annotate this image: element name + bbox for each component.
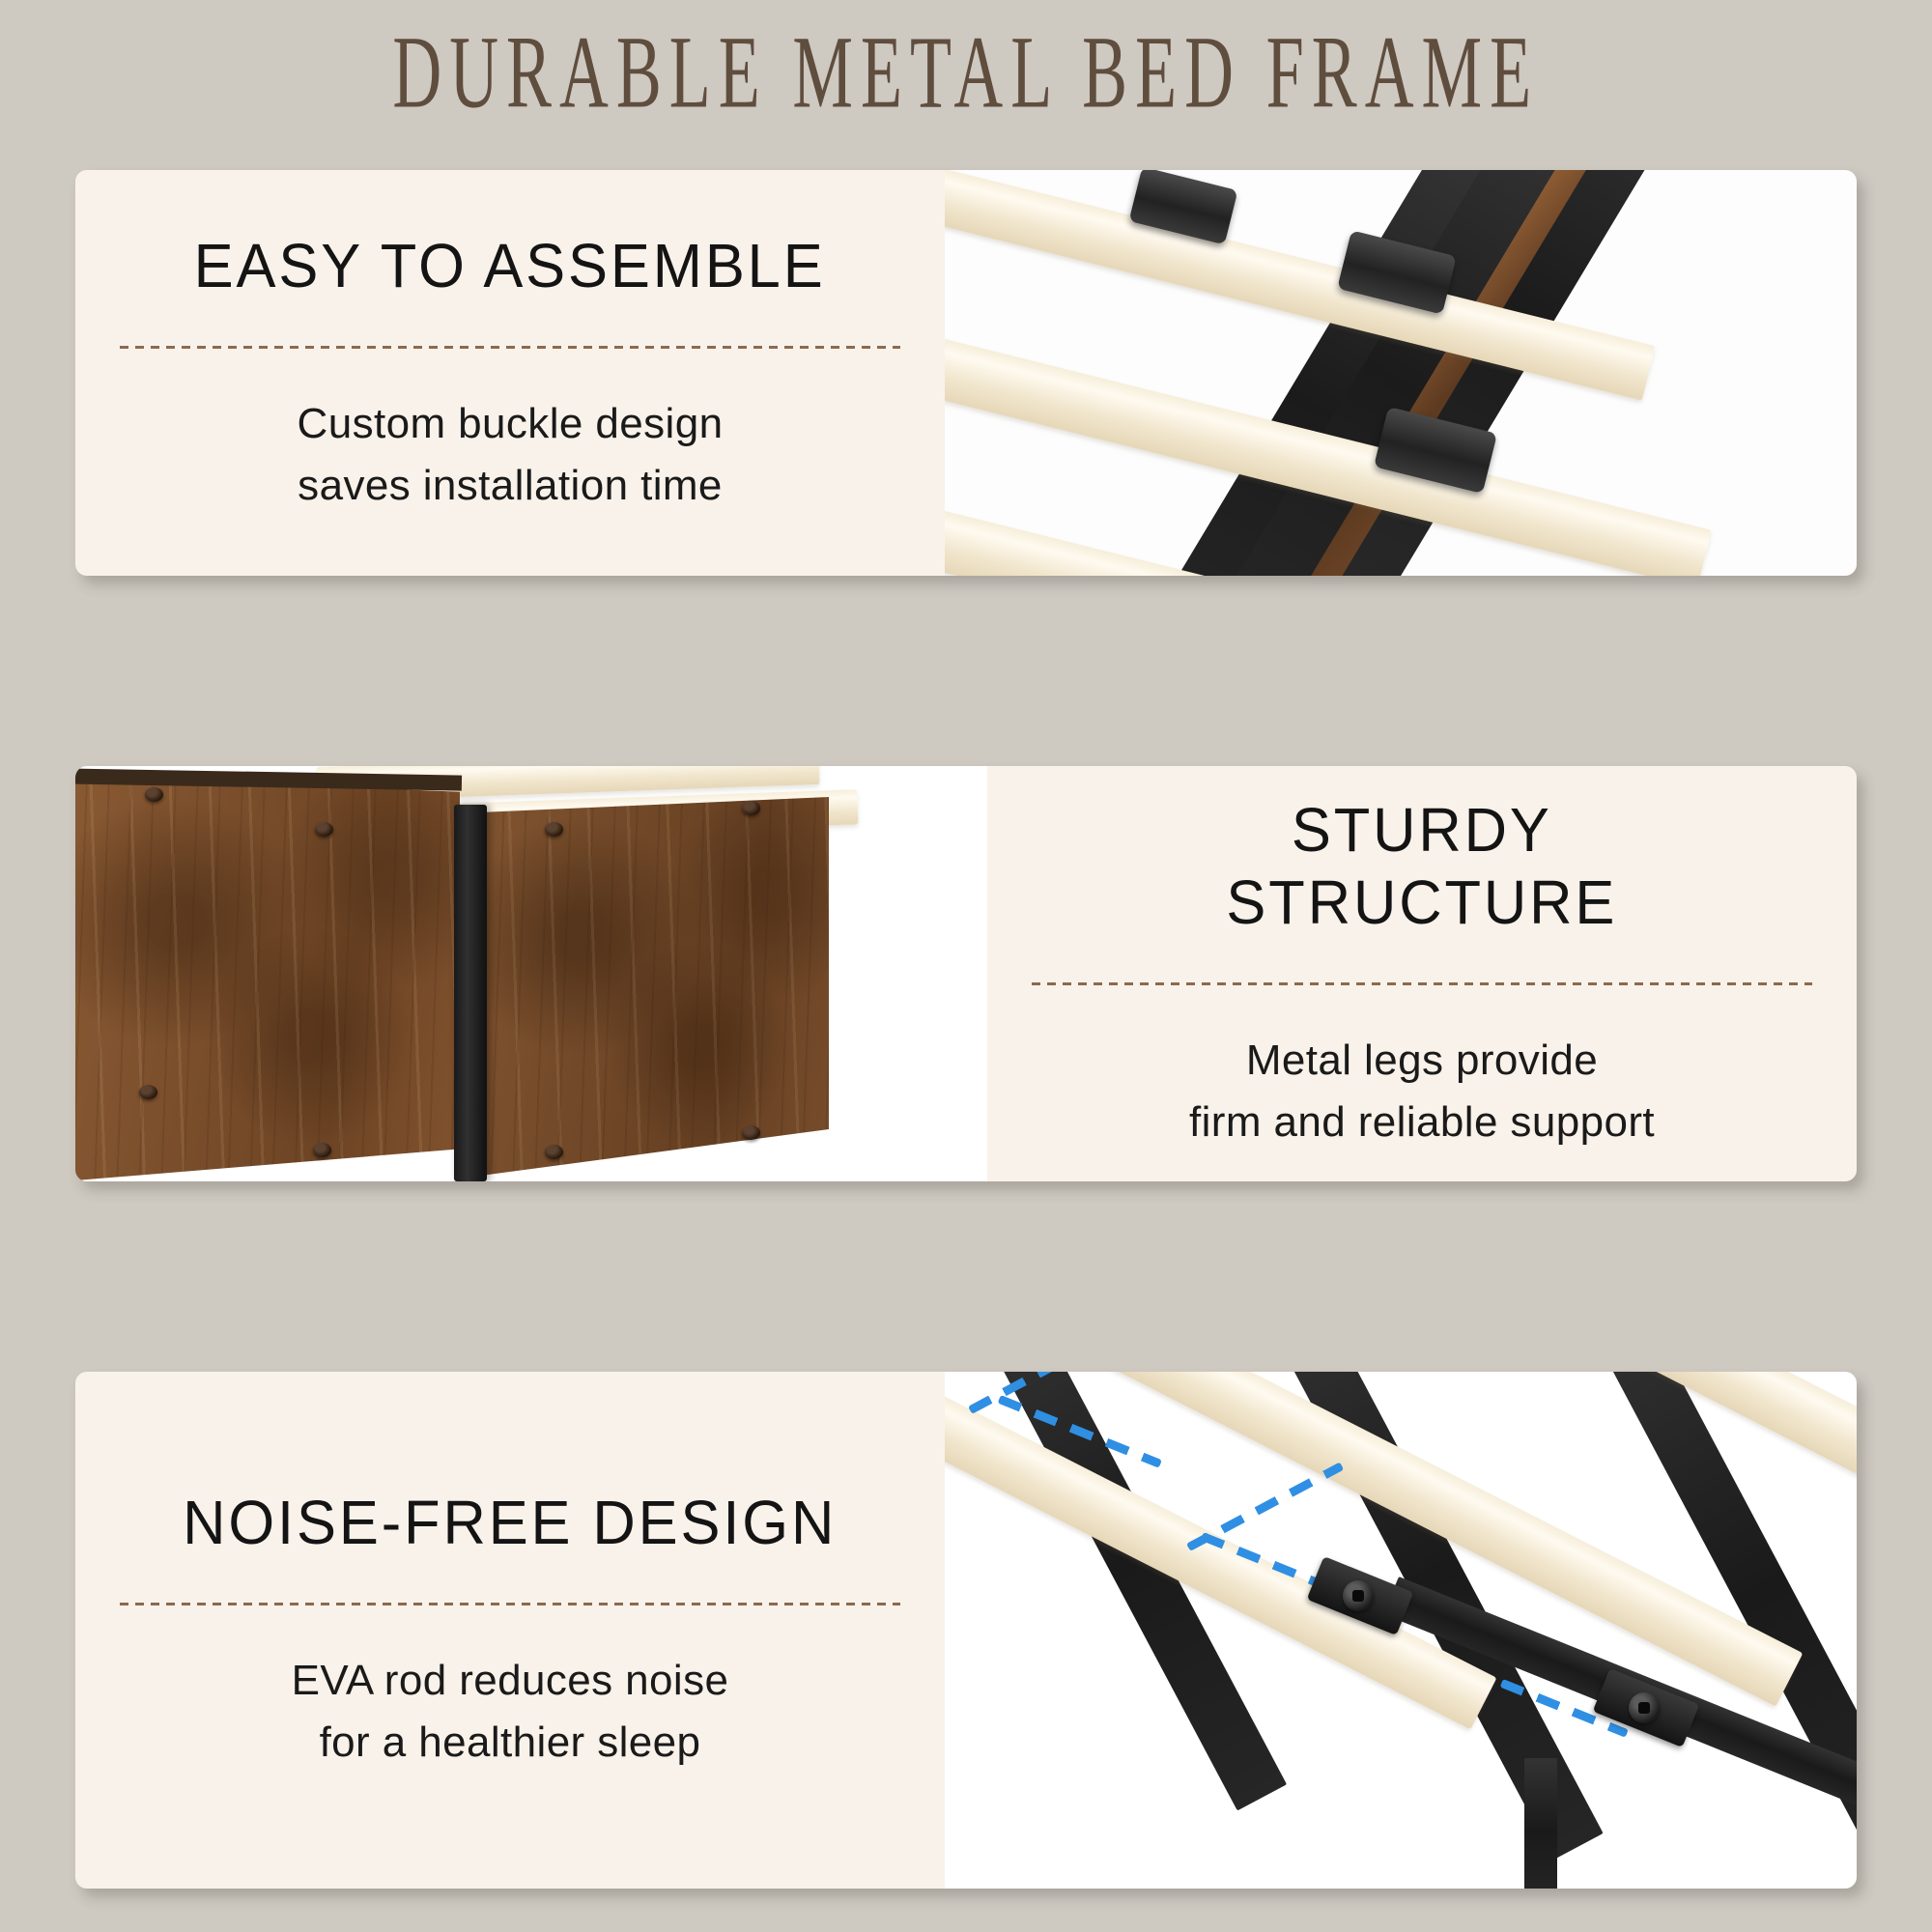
feature-title: EASY TO ASSEMBLE [194, 230, 826, 301]
photo-eva-rod-support [945, 1372, 1857, 1889]
feature-body: Custom buckle design saves installation … [298, 393, 724, 517]
feature-body: EVA rod reduces noise for a healthier sl… [292, 1650, 729, 1774]
feature-body: Metal legs provide firm and reliable sup… [1189, 1030, 1655, 1153]
screw [315, 822, 333, 837]
infographic-header: DURABLE METAL BED FRAME [0, 0, 1932, 145]
screw [742, 1125, 760, 1140]
footboard-side-face [481, 797, 829, 1181]
dashed-divider [120, 1603, 900, 1605]
feature-text-card: NOISE-FREE DESIGN EVA rod reduces noise … [75, 1372, 945, 1889]
feature-panel-noise-free-design: NOISE-FREE DESIGN EVA rod reduces noise … [75, 1372, 1857, 1889]
feature-title: NOISE-FREE DESIGN [183, 1487, 837, 1558]
feature-panel-sturdy-structure: STURDY STRUCTURE Metal legs provide firm… [75, 766, 1857, 1181]
screw [139, 1085, 157, 1099]
dashed-divider [1032, 982, 1812, 985]
feature-text-card: EASY TO ASSEMBLE Custom buckle design sa… [75, 170, 945, 576]
bracket-bolt [1343, 1580, 1374, 1611]
screw [313, 1143, 331, 1157]
metal-leg [1524, 1758, 1557, 1889]
photo-slats-buckles [945, 170, 1857, 576]
screw [545, 822, 563, 837]
eva-rod-highlight [1186, 1462, 1344, 1550]
screw [742, 801, 760, 815]
feature-title: STURDY STRUCTURE [1227, 794, 1618, 937]
metal-corner-post [454, 805, 487, 1181]
screw [545, 1145, 563, 1159]
feature-text-card: STURDY STRUCTURE Metal legs provide firm… [987, 766, 1857, 1181]
bracket-bolt [1629, 1692, 1660, 1723]
feature-panel-easy-to-assemble: EASY TO ASSEMBLE Custom buckle design sa… [75, 170, 1857, 576]
dashed-divider [120, 346, 900, 349]
screw [145, 787, 163, 802]
page-title: DURABLE METAL BED FRAME [393, 13, 1540, 131]
footboard-front-face [75, 776, 460, 1181]
photo-wood-footboard [75, 766, 987, 1181]
